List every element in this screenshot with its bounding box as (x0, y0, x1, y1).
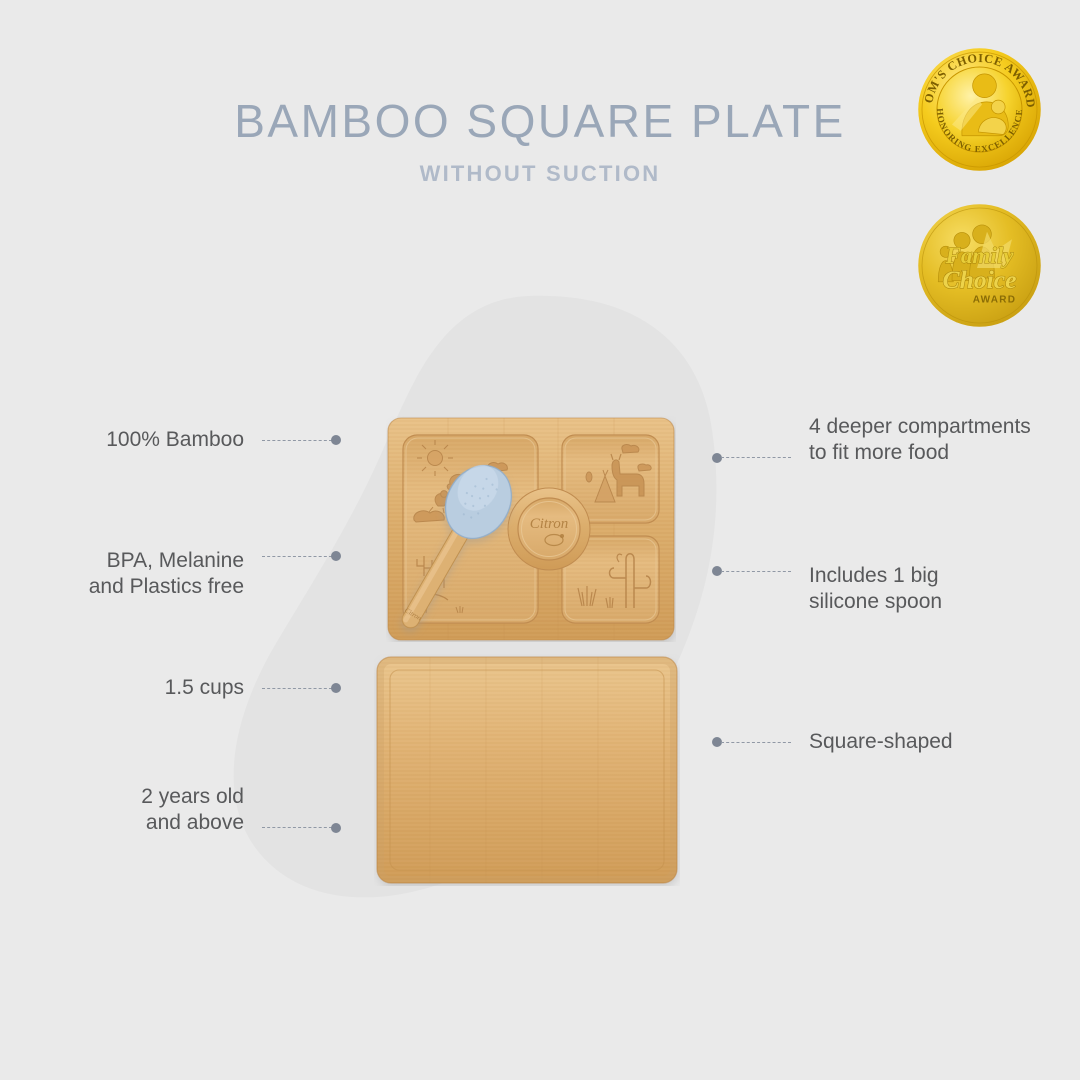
leader-dot (331, 823, 341, 833)
feature-spoon-included: Includes 1 big silicone spoon (712, 563, 1080, 616)
leader-line (262, 435, 341, 445)
infographic-canvas: BAMBOO SQUARE PLATE WITHOUT SUCTION (0, 0, 1080, 1080)
engraved-brand-logo: Citron (530, 516, 569, 532)
feature-square-shaped: Square-shaped (712, 729, 1080, 755)
feature-label: 2 years old and above (141, 784, 244, 837)
leader-dash (262, 440, 332, 441)
product-image-plate-underside (374, 654, 680, 886)
feature-label: BPA, Melanine and Plastics free (89, 548, 244, 601)
product-image-plate-top-view: Citron (386, 416, 676, 642)
leader-line (262, 683, 341, 693)
feature-label: Square-shaped (809, 729, 953, 755)
feature-compartments: 4 deeper compartments to fit more food (712, 414, 1080, 467)
leader-dot (331, 551, 341, 561)
leader-line (262, 551, 341, 561)
compartment-center-round: Citron (508, 488, 590, 570)
feature-label: 4 deeper compartments to fit more food (809, 414, 1031, 467)
feature-age-range: 2 years old and above (0, 784, 341, 837)
leader-dash (721, 742, 791, 743)
badge-family-choice-award: Family Choice AWARD (917, 203, 1042, 328)
leader-line (712, 453, 791, 463)
badge-fca-line2: Choice (943, 265, 1017, 294)
badge-fca-line3: AWARD (973, 294, 1016, 305)
feature-bpa-free: BPA, Melanine and Plastics free (0, 548, 341, 601)
feature-label: Includes 1 big silicone spoon (809, 563, 942, 616)
feature-100-bamboo: 100% Bamboo (0, 427, 341, 453)
leader-dot (331, 683, 341, 693)
badge-moms-choice-awards: MOM'S CHOICE AWARDS HONORING EXCELLENCE (917, 47, 1042, 172)
leader-dash (721, 571, 791, 572)
leader-dash (721, 457, 791, 458)
leader-dash (262, 827, 332, 828)
feature-label: 1.5 cups (165, 675, 244, 701)
leader-dash (262, 556, 332, 557)
leader-line (712, 737, 791, 747)
leader-line (262, 823, 341, 833)
feature-label: 100% Bamboo (106, 427, 244, 453)
leader-dash (262, 688, 332, 689)
leader-dot (331, 435, 341, 445)
feature-capacity: 1.5 cups (0, 675, 341, 701)
leader-line (712, 566, 791, 576)
